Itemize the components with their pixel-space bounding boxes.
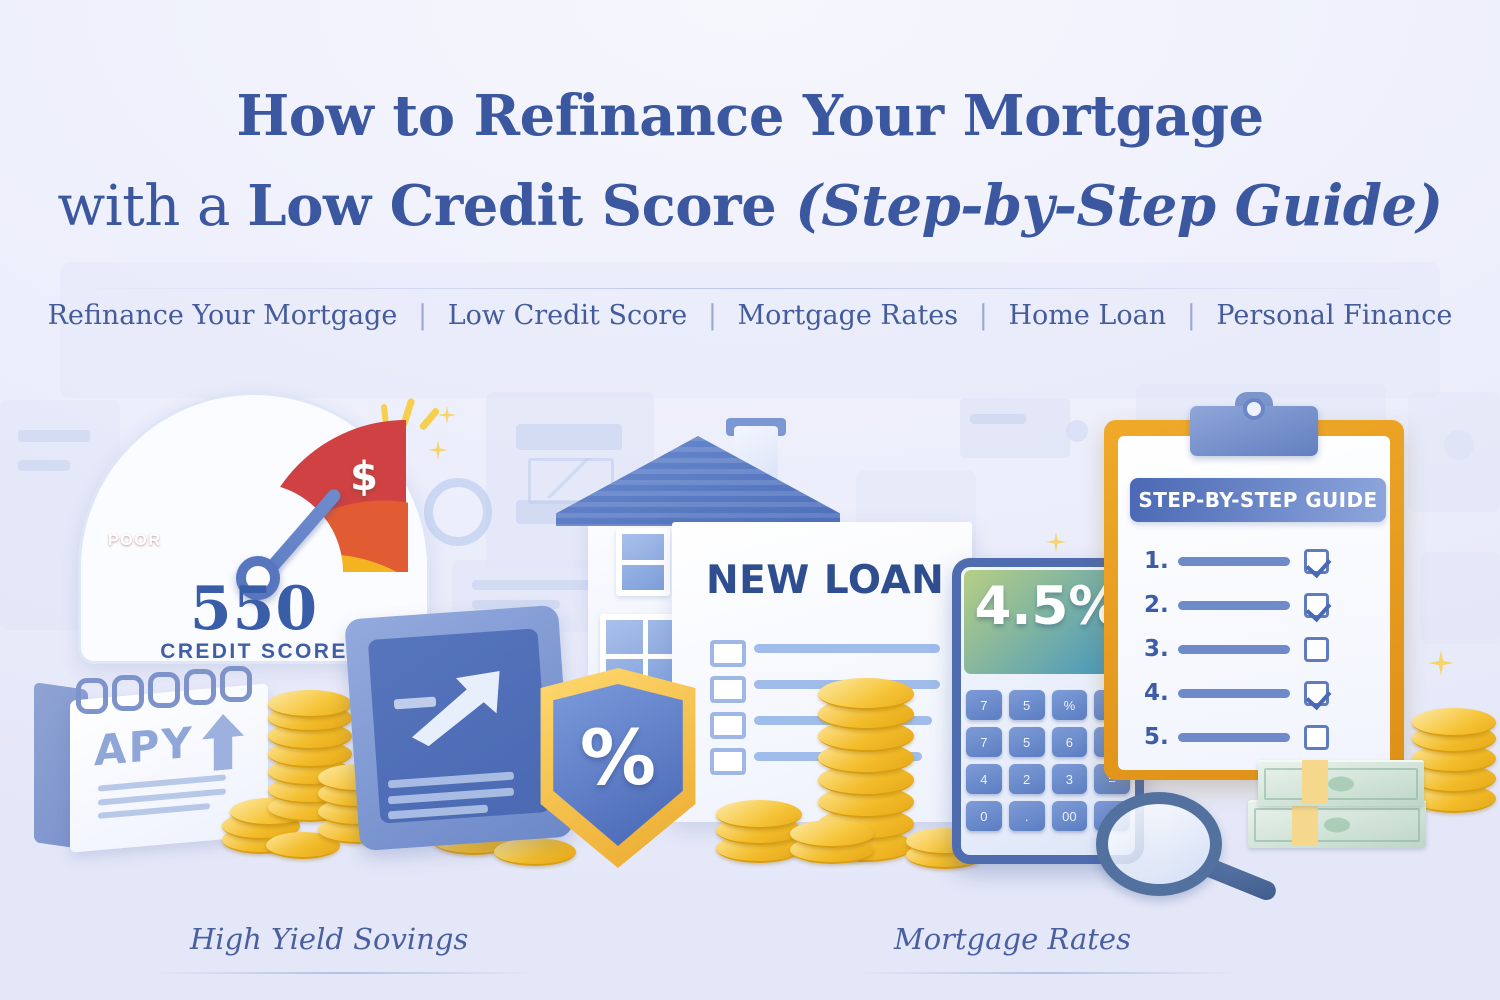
checklist-item[interactable]: 3. xyxy=(1144,632,1384,666)
caption-right-underline xyxy=(856,972,1238,974)
checklist-item[interactable]: 4. xyxy=(1144,676,1384,710)
header-divider xyxy=(66,288,1434,289)
caption-left-underline xyxy=(152,972,534,974)
calculator-key[interactable]: 00 xyxy=(1052,801,1088,831)
background-bar xyxy=(970,414,1026,424)
checkbox-checked-icon[interactable] xyxy=(1304,681,1329,706)
calendar-ring xyxy=(220,666,252,702)
calculator-key[interactable]: 4 xyxy=(966,764,1002,794)
checkbox-checked-icon[interactable] xyxy=(1304,549,1329,574)
trending-up-arrow-icon xyxy=(404,666,513,747)
coin-stack xyxy=(790,800,900,870)
checkbox-checked-icon[interactable] xyxy=(1304,593,1329,618)
tag-separator: | xyxy=(418,300,427,331)
checklist-number: 3. xyxy=(1144,636,1178,662)
title-emphasis: Low Credit Score xyxy=(247,173,795,239)
tag-separator: | xyxy=(979,300,988,331)
calculator-key[interactable]: 5 xyxy=(1009,690,1045,720)
infographic-canvas: How to Refinance Your Mortgage with a Lo… xyxy=(0,0,1500,1000)
page-title: How to Refinance Your Mortgage with a Lo… xyxy=(0,88,1500,235)
magnifying-glass-icon xyxy=(1096,792,1264,916)
checklist-text-line xyxy=(1178,689,1290,698)
checklist-text-line xyxy=(1178,601,1290,610)
document-line xyxy=(754,644,940,653)
background-circle xyxy=(1066,420,1088,442)
checklist-text-line xyxy=(1178,733,1290,742)
calculator-key[interactable]: 2 xyxy=(1009,764,1045,794)
calculator-key[interactable]: 5 xyxy=(1009,727,1045,757)
tag-item-2[interactable]: Mortgage Rates xyxy=(738,300,959,331)
document-checkbox[interactable] xyxy=(710,640,746,667)
calculator-key[interactable]: % xyxy=(1052,690,1088,720)
calendar-ring xyxy=(148,672,180,708)
background-square xyxy=(960,398,1070,458)
background-ring-icon xyxy=(424,478,492,546)
clipboard-banner: STEP-BY-STEP GUIDE xyxy=(1130,478,1386,522)
tag-item-1[interactable]: Low Credit Score xyxy=(448,300,688,331)
title-line-2: with a Low Credit Score (Step-by-Step Gu… xyxy=(0,178,1500,235)
dollar-icon: $ xyxy=(350,454,378,500)
cash-band xyxy=(1292,800,1318,846)
caption-right: Mortgage Rates xyxy=(894,922,1131,956)
percent-shield: % xyxy=(530,668,706,868)
magnifier-lens xyxy=(1096,792,1222,896)
sparkle-icon xyxy=(1084,440,1100,456)
tag-item-0[interactable]: Refinance Your Mortgage xyxy=(48,300,398,331)
checklist-number: 5. xyxy=(1144,724,1178,750)
apy-label: APY xyxy=(94,718,194,776)
checklist-number: 2. xyxy=(1144,592,1178,618)
calendar-ring xyxy=(184,669,216,705)
title-line-1: How to Refinance Your Mortgage xyxy=(0,88,1500,144)
tag-separator: | xyxy=(1187,300,1196,331)
clipboard-clamp-hole xyxy=(1243,398,1265,420)
tag-item-3[interactable]: Home Loan xyxy=(1008,300,1166,331)
background-circle xyxy=(1444,430,1474,460)
sparkle-icon xyxy=(1428,650,1454,676)
calendar-ring xyxy=(76,678,108,714)
tag-separator: | xyxy=(708,300,717,331)
tag-item-4[interactable]: Personal Finance xyxy=(1216,300,1452,331)
document-checkbox[interactable] xyxy=(710,676,746,703)
banknote-bundle xyxy=(1258,760,1424,806)
calendar-ring xyxy=(112,675,144,711)
checklist-number: 1. xyxy=(1144,548,1178,574)
tag-list: Refinance Your Mortgage | Low Credit Sco… xyxy=(0,300,1500,331)
cash-stack xyxy=(1248,756,1434,860)
checklist-text-line xyxy=(1178,645,1290,654)
background-bar xyxy=(18,460,70,471)
banknote-bundle xyxy=(1248,800,1426,848)
step-by-step-clipboard: STEP-BY-STEP GUIDE 1. 2. 3. 4. 5. xyxy=(1104,420,1404,780)
checklist-number: 4. xyxy=(1144,680,1178,706)
house-roof-shingles xyxy=(556,436,840,526)
calculator-key[interactable]: 7 xyxy=(966,690,1002,720)
background-panel xyxy=(1420,552,1500,644)
document-title: NEW LOAN xyxy=(706,558,944,603)
calculator-key[interactable]: 3 xyxy=(1052,764,1088,794)
calculator-key[interactable]: 7 xyxy=(966,727,1002,757)
cash-band xyxy=(1302,760,1328,804)
checklist-item[interactable]: 5. xyxy=(1144,720,1384,754)
checklist-item[interactable]: 2. xyxy=(1144,588,1384,622)
calculator-key[interactable]: . xyxy=(1009,801,1045,831)
house-window-upper xyxy=(616,528,670,596)
calculator-key[interactable]: 6 xyxy=(1052,727,1088,757)
sparkle-icon xyxy=(438,406,456,424)
gauge-rating-label: POOR xyxy=(108,532,162,550)
caption-left: High Yield Sovings xyxy=(190,922,468,956)
sparkle-icon xyxy=(1046,532,1066,552)
document-checkbox[interactable] xyxy=(710,748,746,775)
checkbox-unchecked-icon[interactable] xyxy=(1304,637,1329,662)
checklist-item[interactable]: 1. xyxy=(1144,544,1384,578)
percent-icon: % xyxy=(530,720,706,796)
checklist-text-line xyxy=(1178,557,1290,566)
title-suffix: (Step-by-Step Guide) xyxy=(795,173,1442,239)
checkbox-unchecked-icon[interactable] xyxy=(1304,725,1329,750)
calculator-key[interactable]: 0 xyxy=(966,801,1002,831)
background-panel xyxy=(1408,392,1500,512)
title-prefix: with a xyxy=(57,174,247,239)
document-checkbox[interactable] xyxy=(710,712,746,739)
